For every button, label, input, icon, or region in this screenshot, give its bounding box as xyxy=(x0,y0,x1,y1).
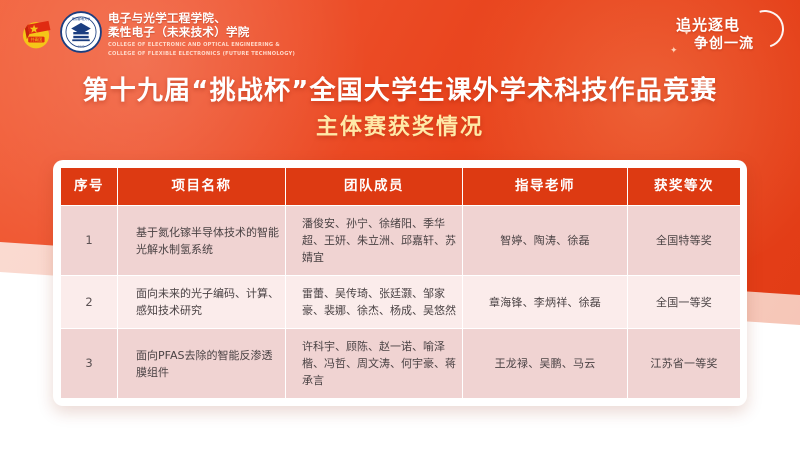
cell-team: 许科宇、顾陈、赵一诺、喻泽楷、冯哲、周文涛、何宇豪、蒋承言 xyxy=(286,329,463,399)
cell-team: 潘俊安、孙宁、徐绪阳、季华超、王妍、朱立洲、邱嘉轩、苏婧宜 xyxy=(286,206,463,276)
table-header-row: 序号 项目名称 团队成员 指导老师 获奖等次 xyxy=(61,168,741,206)
college-name-en-line2: COLLEGE OF FLEXIBLE ELECTRONICS (FUTURE … xyxy=(108,51,295,58)
cell-award: 江苏省一等奖 xyxy=(628,329,741,399)
cell-project: 基于氮化镓半导体技术的智能光解水制氢系统 xyxy=(118,206,286,276)
svg-text:共青团: 共青团 xyxy=(30,37,42,42)
poster-header-bar: 共青团 南京邮电大学 1942 电子与光学工程学院、 柔性电子（未来技术）学院 … xyxy=(0,0,800,62)
column-header-award: 获奖等次 xyxy=(628,168,741,206)
cell-index: 1 xyxy=(61,206,118,276)
slogan-line-2: 争创一流 xyxy=(694,33,754,53)
poster-canvas: 共青团 南京邮电大学 1942 电子与光学工程学院、 柔性电子（未来技术）学院 … xyxy=(0,0,800,450)
cell-index: 3 xyxy=(61,329,118,399)
page-title-line-1: 第十九届“挑战杯”全国大学生课外学术科技作品竞赛 xyxy=(0,74,800,108)
college-name-cn-line1: 电子与光学工程学院、 xyxy=(108,12,295,26)
cell-project: 面向PFAS去除的智能反渗透膜组件 xyxy=(118,329,286,399)
svg-text:南京邮电大学: 南京邮电大学 xyxy=(72,16,90,21)
slogan-badge: 追光逐电 争创一流 ✦ ✦ xyxy=(668,6,788,56)
table-row: 3 面向PFAS去除的智能反渗透膜组件 许科宇、顾陈、赵一诺、喻泽楷、冯哲、周文… xyxy=(61,329,741,399)
award-table-card: 序号 项目名称 团队成员 指导老师 获奖等次 1 基于氮化镓半导体技术的智能光解… xyxy=(53,160,747,406)
column-header-index: 序号 xyxy=(61,168,118,206)
sparkle-icon: ✦ xyxy=(670,46,678,56)
cell-team: 雷蕾、吴传琦、张廷灏、邹家豪、裴娜、徐杰、杨成、吴悠然 xyxy=(286,276,463,329)
cell-index: 2 xyxy=(61,276,118,329)
sparkle-icon: ✦ xyxy=(684,30,689,37)
award-table: 序号 项目名称 团队成员 指导老师 获奖等次 1 基于氮化镓半导体技术的智能光解… xyxy=(60,167,741,399)
page-title-line-2: 主体赛获奖情况 xyxy=(0,112,800,144)
communist-youth-league-emblem-icon: 共青团 xyxy=(18,13,58,51)
table-row: 2 面向未来的光子编码、计算、感知技术研究 雷蕾、吴传琦、张廷灏、邹家豪、裴娜、… xyxy=(61,276,741,329)
page-title: 第十九届“挑战杯”全国大学生课外学术科技作品竞赛 主体赛获奖情况 xyxy=(0,74,800,144)
table-row: 1 基于氮化镓半导体技术的智能光解水制氢系统 潘俊安、孙宁、徐绪阳、季华超、王妍… xyxy=(61,206,741,276)
college-name-cn-line2: 柔性电子（未来技术）学院 xyxy=(108,26,295,40)
college-name-en-line1: COLLEGE OF ELECTRONIC AND OPTICAL ENGINE… xyxy=(108,42,295,49)
cell-advisor: 王龙禄、吴鹏、马云 xyxy=(463,329,628,399)
cell-advisor: 智婷、陶涛、徐磊 xyxy=(463,206,628,276)
cell-award: 全国特等奖 xyxy=(628,206,741,276)
column-header-advisor: 指导老师 xyxy=(463,168,628,206)
column-header-team: 团队成员 xyxy=(286,168,463,206)
university-seal-icon: 南京邮电大学 1942 xyxy=(60,11,102,53)
cell-advisor: 章海锋、李炳祥、徐磊 xyxy=(463,276,628,329)
column-header-project: 项目名称 xyxy=(118,168,286,206)
cell-award: 全国一等奖 xyxy=(628,276,741,329)
svg-text:1942: 1942 xyxy=(77,44,84,48)
cell-project: 面向未来的光子编码、计算、感知技术研究 xyxy=(118,276,286,329)
college-name-block: 电子与光学工程学院、 柔性电子（未来技术）学院 COLLEGE OF ELECT… xyxy=(108,12,295,57)
